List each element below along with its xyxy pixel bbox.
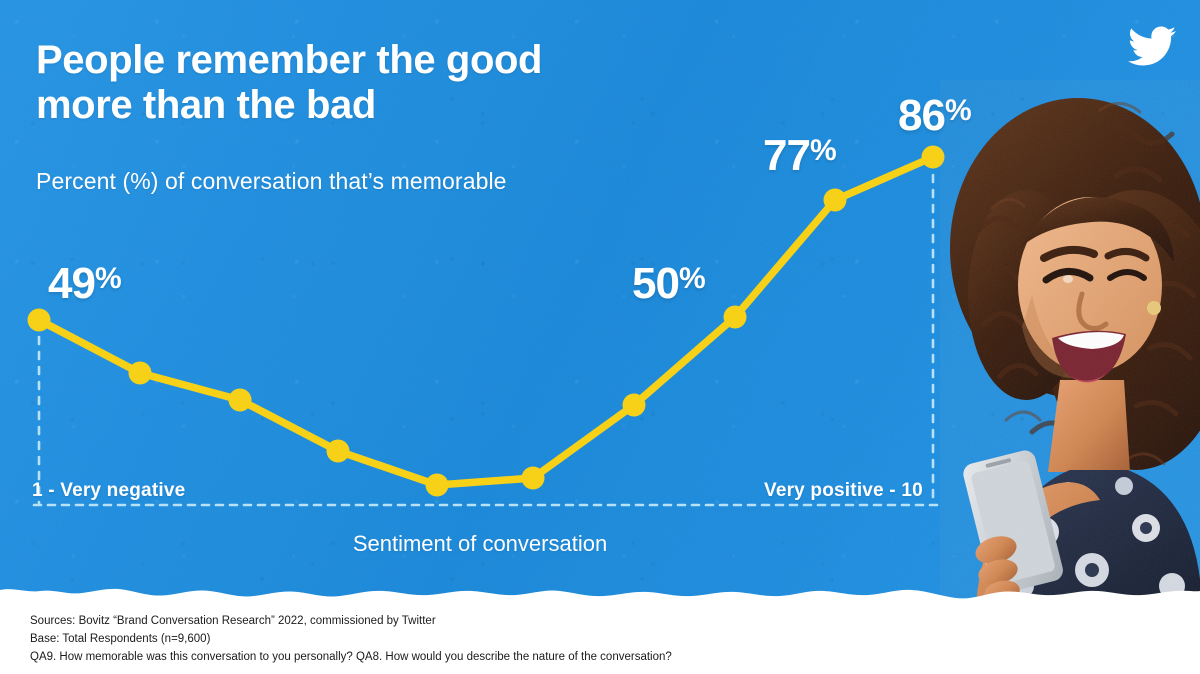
data-point-9 xyxy=(824,189,847,212)
data-point-4 xyxy=(327,440,350,463)
torn-paper-edge xyxy=(0,560,1200,604)
data-label-point-1: 49% xyxy=(48,262,121,306)
data-label-suffix-1: % xyxy=(95,262,121,295)
x-axis-label-left: 1 - Very negative xyxy=(32,480,185,502)
footer-line-sources: Sources: Bovitz “Brand Conversation Rese… xyxy=(30,612,1170,630)
data-label-value-1: 49 xyxy=(48,259,95,308)
data-label-value-10: 86 xyxy=(898,91,945,140)
poster-panel: People remember the good more than the b… xyxy=(0,0,1200,604)
data-label-suffix-8: % xyxy=(679,262,705,295)
data-label-point-8: 50% xyxy=(632,262,705,306)
data-label-suffix-9: % xyxy=(810,134,836,167)
data-point-3 xyxy=(229,389,252,412)
data-point-8 xyxy=(724,306,747,329)
series-markers xyxy=(28,146,945,497)
x-axis-label-right: Very positive - 10 xyxy=(764,480,923,502)
x-axis-title: Sentiment of conversation xyxy=(0,531,960,557)
photo-woman-with-phone xyxy=(940,80,1200,604)
data-label-point-9: 77% xyxy=(763,134,836,178)
footer-line-questions: QA9. How memorable was this conversation… xyxy=(30,648,1170,666)
series-line xyxy=(39,157,933,485)
data-point-7 xyxy=(623,394,646,417)
infographic-root: People remember the good more than the b… xyxy=(0,0,1200,674)
data-point-1 xyxy=(28,309,51,332)
data-point-2 xyxy=(129,362,152,385)
data-label-value-8: 50 xyxy=(632,259,679,308)
data-label-value-9: 77 xyxy=(763,131,810,180)
photo-illustration xyxy=(940,80,1200,604)
data-point-5 xyxy=(426,474,449,497)
footer-line-base: Base: Total Respondents (n=9,600) xyxy=(30,630,1170,648)
footer-sources: Sources: Bovitz “Brand Conversation Rese… xyxy=(30,612,1170,666)
data-point-6 xyxy=(522,467,545,490)
